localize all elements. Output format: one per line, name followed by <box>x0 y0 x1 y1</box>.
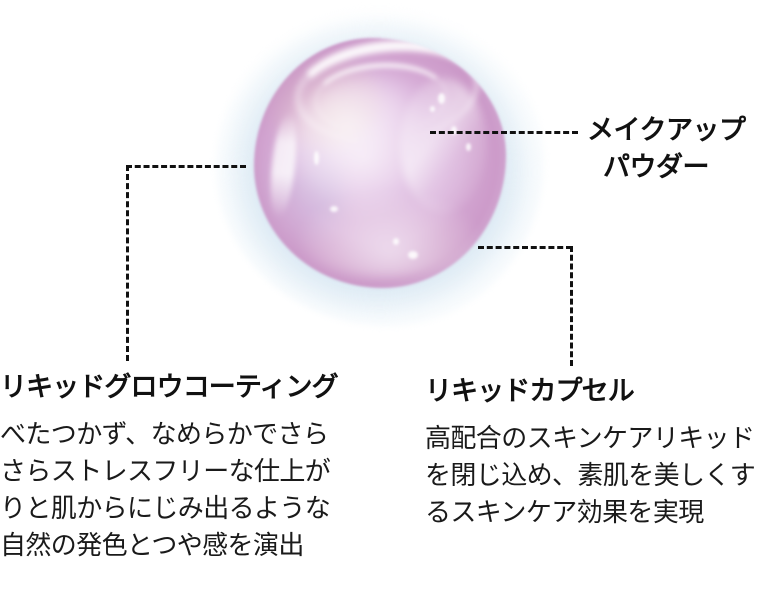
body-line: べたつかず、なめらかでさら <box>0 416 400 453</box>
callout-makeup-powder-line1: メイクアップ <box>587 115 745 145</box>
column-liquid-capsule: リキッドカプセル 高配合のスキンケアリキッド を閉じ込め、素肌を美しくす るスキ… <box>425 376 780 531</box>
body-line: 自然の発色とつや感を演出 <box>0 527 400 564</box>
liquid-capsule-core <box>254 38 506 288</box>
body-line: さらストレスフリーな仕上が <box>0 453 400 490</box>
capsule-bubble <box>466 143 471 151</box>
column-body-coating: べたつかず、なめらかでさら さらストレスフリーな仕上が りと肌からにじみ出るよう… <box>0 416 400 564</box>
capsule-bubble <box>408 251 418 259</box>
body-line: りと肌からにじみ出るような <box>0 490 400 527</box>
leader-line-capsule-horizontal <box>478 246 572 249</box>
body-line: 高配合のスキンケアリキッド <box>425 420 780 457</box>
capsule-bubble <box>330 206 338 212</box>
infographic-canvas: メイクアップ パウダー リキッドグロウコーティング べたつかず、なめらかでさら … <box>0 0 780 598</box>
leader-line-coating-horizontal <box>126 165 246 168</box>
callout-makeup-powder-line2: パウダー <box>587 149 777 186</box>
body-line: るスキンケア効果を実現 <box>425 494 780 531</box>
capsule-bubble <box>438 93 445 104</box>
body-line: を閉じ込め、素肌を美しくす <box>425 457 780 494</box>
callout-makeup-powder: メイクアップ パウダー <box>587 112 777 185</box>
product-illustration <box>210 0 550 335</box>
column-liquid-glow-coating: リキッドグロウコーティング べたつかず、なめらかでさら さらストレスフリーな仕上… <box>0 372 400 563</box>
column-heading-coating: リキッドグロウコーティング <box>0 372 400 404</box>
capsule-bubble <box>393 238 399 245</box>
leader-line-coating-vertical <box>126 165 129 361</box>
capsule-bottom-sheen <box>299 193 475 278</box>
column-body-capsule: 高配合のスキンケアリキッド を閉じ込め、素肌を美しくす るスキンケア効果を実現 <box>425 420 780 531</box>
leader-line-makeup-powder <box>430 131 578 134</box>
column-heading-capsule: リキッドカプセル <box>425 376 780 408</box>
leader-line-capsule-vertical <box>570 246 573 366</box>
